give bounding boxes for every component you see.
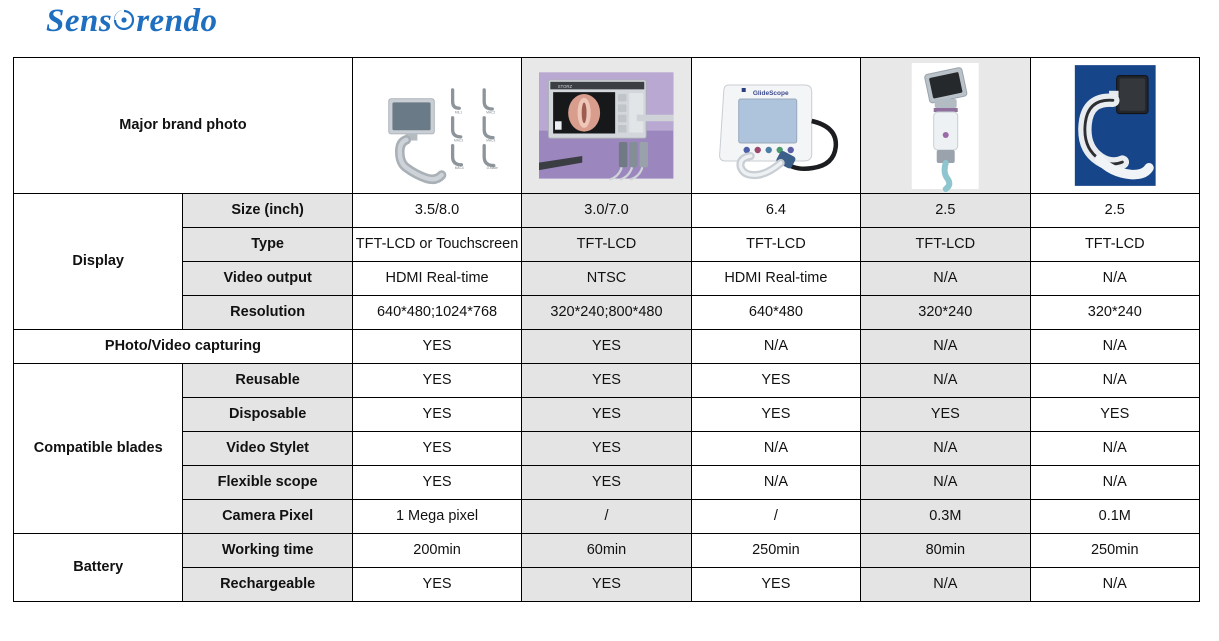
cell-video-output-p3: HDMI Real-time bbox=[691, 262, 860, 296]
cell-rechargeable-p4: N/A bbox=[861, 568, 1030, 602]
cell-resolution-p1: 640*480;1024*768 bbox=[352, 296, 521, 330]
cell-resolution-p3: 640*480 bbox=[691, 296, 860, 330]
brand-name-suffix: rendo bbox=[136, 3, 217, 40]
cell-capturing-p4: N/A bbox=[861, 330, 1030, 364]
cell-working-time-p3: 250min bbox=[691, 534, 860, 568]
product-photo-4 bbox=[861, 58, 1030, 194]
cell-disposable-p4: YES bbox=[861, 398, 1030, 432]
cell-flexible-scope-p5: N/A bbox=[1030, 466, 1199, 500]
cell-video-output-p2: NTSC bbox=[522, 262, 691, 296]
row-label-resolution: Resolution bbox=[183, 296, 352, 330]
cell-resolution-p2: 320*240;800*480 bbox=[522, 296, 691, 330]
table-row-video-output: Video output HDMI Real-time NTSC HDMI Re… bbox=[14, 262, 1200, 296]
table-row-reusable: Compatible blades Reusable YES YES YES N… bbox=[14, 364, 1200, 398]
cell-reusable-p5: N/A bbox=[1030, 364, 1199, 398]
cell-flexible-scope-p2: YES bbox=[522, 466, 691, 500]
svg-text:GlideScope: GlideScope bbox=[753, 90, 789, 97]
cell-flexible-scope-p4: N/A bbox=[861, 466, 1030, 500]
table-row-rechargeable: Rechargeable YES YES YES N/A N/A bbox=[14, 568, 1200, 602]
row-label-video-stylet: Video Stylet bbox=[183, 432, 352, 466]
cell-video-stylet-p4: N/A bbox=[861, 432, 1030, 466]
cell-working-time-p5: 250min bbox=[1030, 534, 1199, 568]
cell-camera-pixel-p3: / bbox=[691, 500, 860, 534]
cell-video-stylet-p1: YES bbox=[352, 432, 521, 466]
cell-working-time-p4: 80min bbox=[861, 534, 1030, 568]
product-photo-1: MIL1MAC2 MAC3MAC3 MAC4D-blade bbox=[352, 58, 521, 194]
table-row-working-time: Battery Working time 200min 60min 250min… bbox=[14, 534, 1200, 568]
product-photo-5 bbox=[1030, 58, 1199, 194]
row-label-photo-video-capturing: PHoto/Video capturing bbox=[14, 330, 353, 364]
product-photo-3: GlideScope bbox=[691, 58, 860, 194]
table-row-size: Display Size (inch) 3.5/8.0 3.0/7.0 6.4 … bbox=[14, 194, 1200, 228]
cell-type-p2: TFT-LCD bbox=[522, 228, 691, 262]
cell-reusable-p3: YES bbox=[691, 364, 860, 398]
svg-text:STORZ: STORZ bbox=[558, 84, 573, 89]
group-label-battery: Battery bbox=[14, 534, 183, 602]
svg-text:MAC3: MAC3 bbox=[486, 138, 495, 142]
photo-row-label: Major brand photo bbox=[14, 58, 353, 194]
cell-disposable-p5: YES bbox=[1030, 398, 1199, 432]
brand-name-prefix: Sens bbox=[46, 3, 112, 40]
cell-size-p2: 3.0/7.0 bbox=[522, 194, 691, 228]
cell-resolution-p5: 320*240 bbox=[1030, 296, 1199, 330]
header-bar: Sensrendo bbox=[0, 0, 1219, 50]
cell-capturing-p2: YES bbox=[522, 330, 691, 364]
cell-rechargeable-p2: YES bbox=[522, 568, 691, 602]
svg-text:D-blade: D-blade bbox=[486, 166, 497, 170]
cell-camera-pixel-p1: 1 Mega pixel bbox=[352, 500, 521, 534]
cell-flexible-scope-p3: N/A bbox=[691, 466, 860, 500]
cell-camera-pixel-p4: 0.3M bbox=[861, 500, 1030, 534]
cell-capturing-p1: YES bbox=[352, 330, 521, 364]
table-row-photo-video-capturing: PHoto/Video capturing YES YES N/A N/A N/… bbox=[14, 330, 1200, 364]
row-label-rechargeable: Rechargeable bbox=[183, 568, 352, 602]
cell-type-p1: TFT-LCD or Touchscreen bbox=[352, 228, 521, 262]
cell-size-p1: 3.5/8.0 bbox=[352, 194, 521, 228]
cell-disposable-p3: YES bbox=[691, 398, 860, 432]
row-label-size: Size (inch) bbox=[183, 194, 352, 228]
cell-video-stylet-p3: N/A bbox=[691, 432, 860, 466]
cell-video-output-p5: N/A bbox=[1030, 262, 1199, 296]
row-label-camera-pixel: Camera Pixel bbox=[183, 500, 352, 534]
cell-size-p4: 2.5 bbox=[861, 194, 1030, 228]
svg-text:MAC3: MAC3 bbox=[454, 138, 463, 142]
row-label-disposable: Disposable bbox=[183, 398, 352, 432]
table-row-camera-pixel: Camera Pixel 1 Mega pixel / / 0.3M 0.1M bbox=[14, 500, 1200, 534]
cell-working-time-p1: 200min bbox=[352, 534, 521, 568]
cell-type-p5: TFT-LCD bbox=[1030, 228, 1199, 262]
cell-camera-pixel-p2: / bbox=[522, 500, 691, 534]
table-row-disposable: Disposable YES YES YES YES YES bbox=[14, 398, 1200, 432]
cell-working-time-p2: 60min bbox=[522, 534, 691, 568]
cell-disposable-p2: YES bbox=[522, 398, 691, 432]
brand-logo: Sensrendo bbox=[46, 3, 218, 40]
cell-video-stylet-p2: YES bbox=[522, 432, 691, 466]
row-label-type: Type bbox=[183, 228, 352, 262]
cell-reusable-p2: YES bbox=[522, 364, 691, 398]
table-row-flexible-scope: Flexible scope YES YES N/A N/A N/A bbox=[14, 466, 1200, 500]
group-label-display: Display bbox=[14, 194, 183, 330]
cell-video-stylet-p5: N/A bbox=[1030, 432, 1199, 466]
svg-text:MIL1: MIL1 bbox=[455, 110, 462, 114]
cell-video-output-p4: N/A bbox=[861, 262, 1030, 296]
table-row-type: Type TFT-LCD or Touchscreen TFT-LCD TFT-… bbox=[14, 228, 1200, 262]
svg-text:MAC4: MAC4 bbox=[455, 166, 464, 170]
cell-rechargeable-p3: YES bbox=[691, 568, 860, 602]
cell-resolution-p4: 320*240 bbox=[861, 296, 1030, 330]
cell-camera-pixel-p5: 0.1M bbox=[1030, 500, 1199, 534]
cell-flexible-scope-p1: YES bbox=[352, 466, 521, 500]
cell-disposable-p1: YES bbox=[352, 398, 521, 432]
product-photo-2: STORZ bbox=[522, 58, 691, 194]
cell-reusable-p4: N/A bbox=[861, 364, 1030, 398]
row-label-working-time: Working time bbox=[183, 534, 352, 568]
svg-text:MAC2: MAC2 bbox=[486, 110, 495, 114]
cell-reusable-p1: YES bbox=[352, 364, 521, 398]
row-label-flexible-scope: Flexible scope bbox=[183, 466, 352, 500]
row-label-video-output: Video output bbox=[183, 262, 352, 296]
brand-photo-row: Major brand photo bbox=[14, 58, 1200, 194]
cell-type-p4: TFT-LCD bbox=[861, 228, 1030, 262]
table-row-video-stylet: Video Stylet YES YES N/A N/A N/A bbox=[14, 432, 1200, 466]
cell-rechargeable-p1: YES bbox=[352, 568, 521, 602]
cell-rechargeable-p5: N/A bbox=[1030, 568, 1199, 602]
cell-capturing-p5: N/A bbox=[1030, 330, 1199, 364]
row-label-reusable: Reusable bbox=[183, 364, 352, 398]
cell-size-p5: 2.5 bbox=[1030, 194, 1199, 228]
lens-o-icon bbox=[113, 3, 135, 40]
product-comparison-table: Major brand photo bbox=[13, 57, 1200, 602]
cell-size-p3: 6.4 bbox=[691, 194, 860, 228]
cell-type-p3: TFT-LCD bbox=[691, 228, 860, 262]
cell-video-output-p1: HDMI Real-time bbox=[352, 262, 521, 296]
cell-capturing-p3: N/A bbox=[691, 330, 860, 364]
table-row-resolution: Resolution 640*480;1024*768 320*240;800*… bbox=[14, 296, 1200, 330]
group-label-compatible-blades: Compatible blades bbox=[14, 364, 183, 534]
